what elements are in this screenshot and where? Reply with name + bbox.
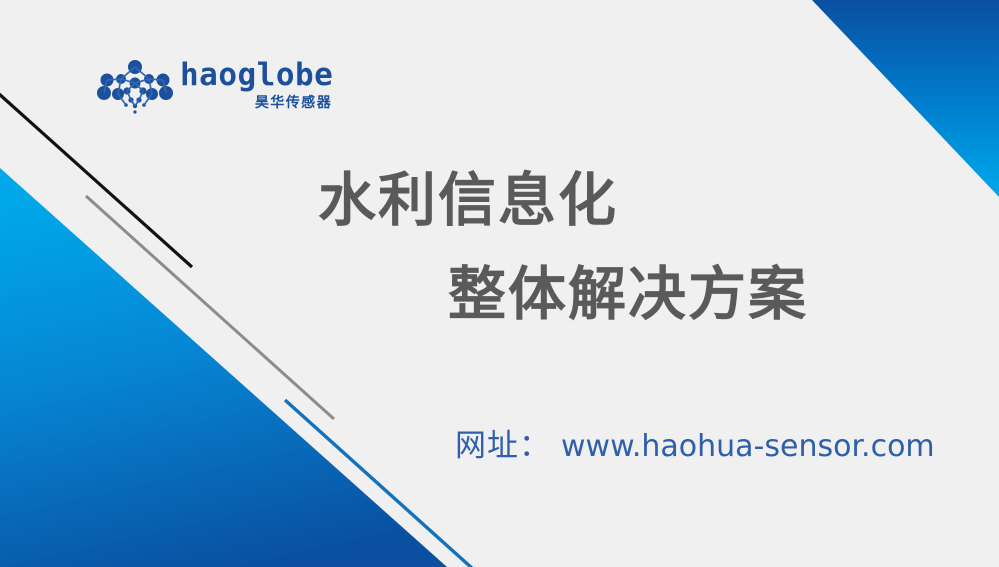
- logo-subtitle: 昊华传感器: [255, 96, 333, 110]
- slide-title-line-1: 水利信息化: [318, 167, 618, 234]
- company-logo: haoglobe 昊华传感器: [96, 56, 333, 118]
- logo-wordmark: haoglobe: [180, 60, 333, 91]
- slide-title-line-2: 整体解决方案: [448, 261, 808, 328]
- website-line: 网址： www.haohua-sensor.com: [455, 420, 935, 465]
- website-label: 网址：: [455, 420, 551, 465]
- website-url[interactable]: www.haohua-sensor.com: [561, 429, 935, 464]
- logo-text-column: haoglobe 昊华传感器: [180, 56, 333, 110]
- molecular-network-logo-mark-icon: [96, 58, 174, 116]
- presentation-title-slide: haoglobe 昊华传感器 水利信息化 整体解决方案 网址： www.haoh…: [0, 0, 999, 567]
